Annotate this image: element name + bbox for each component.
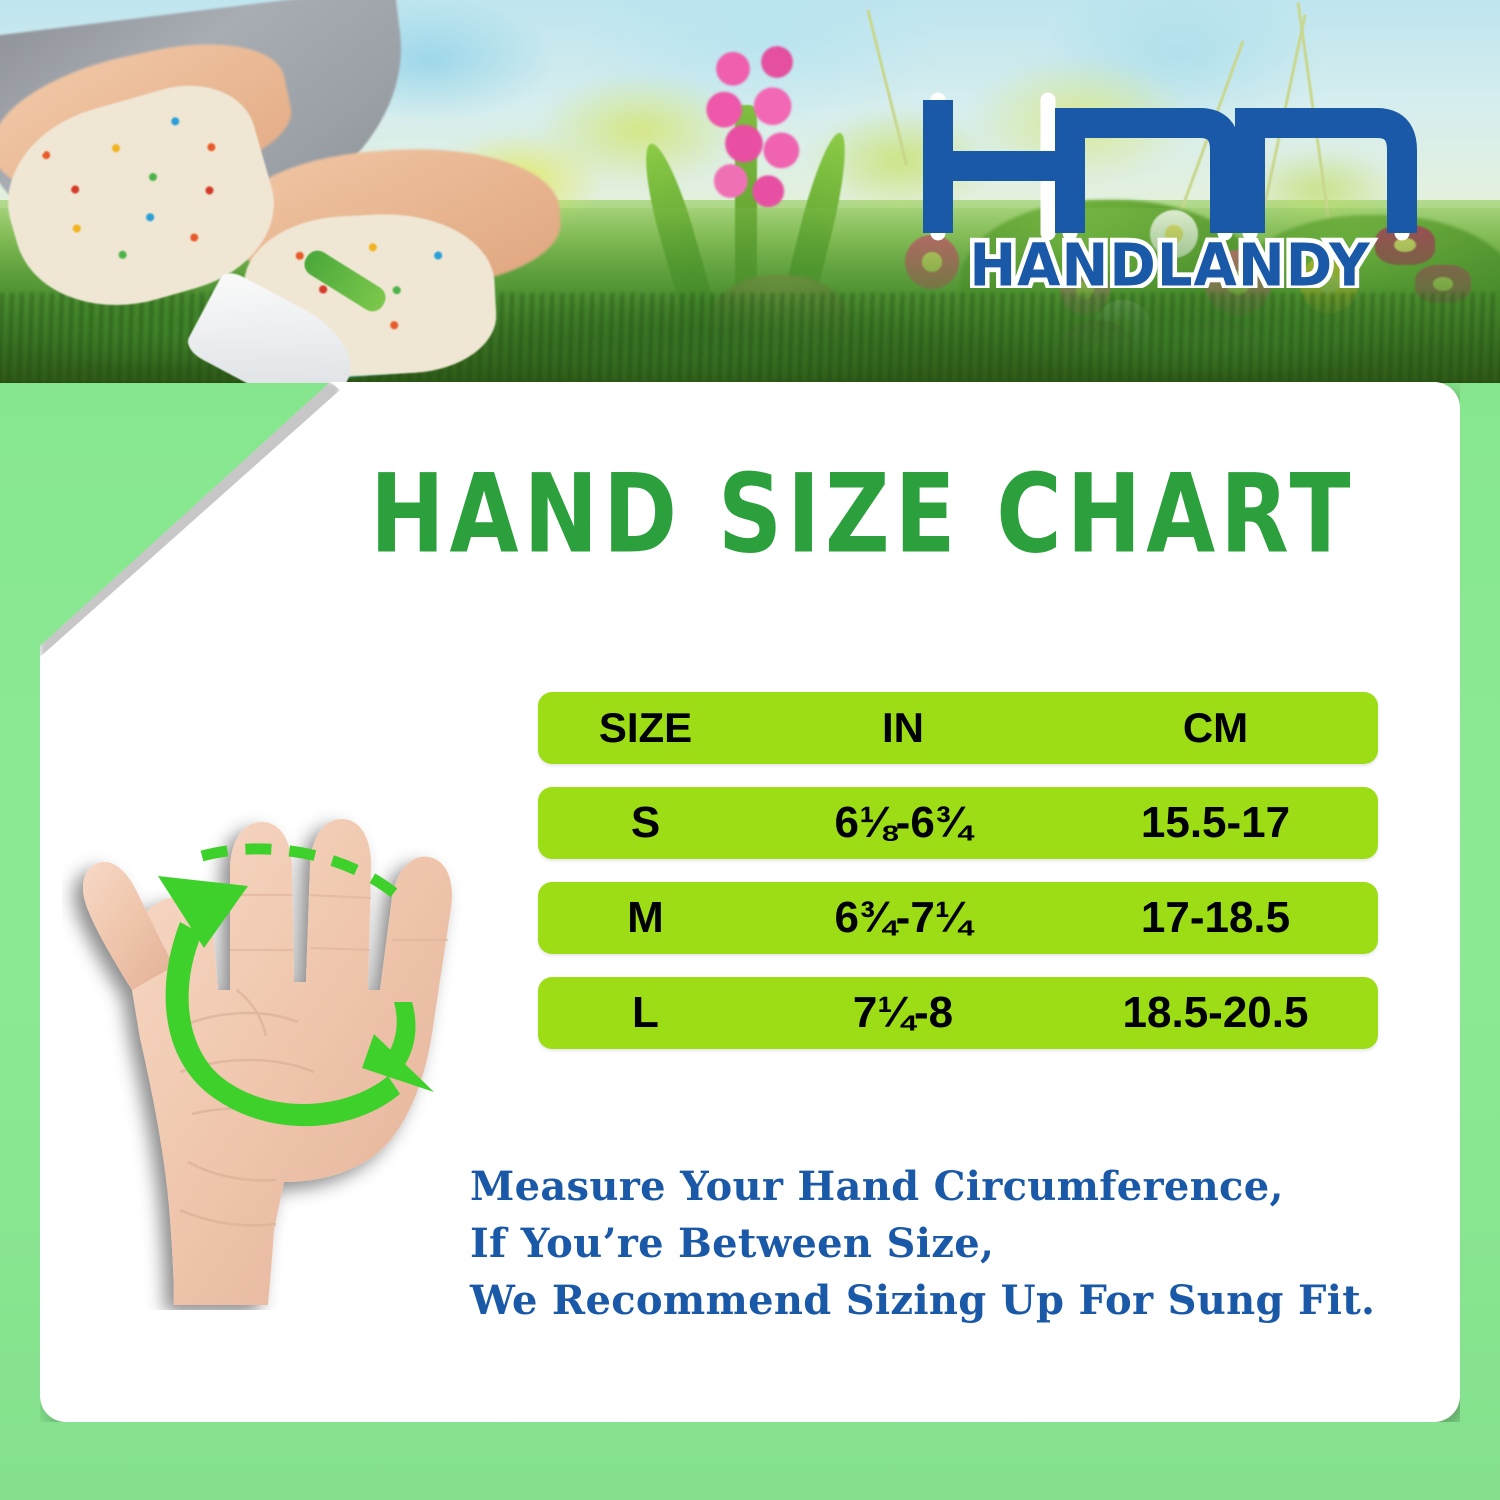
table-row: S 6⅛-6¾ 15.5-17	[538, 787, 1378, 859]
note-line-1: Measure Your Hand Circumference,	[470, 1158, 1400, 1215]
table-row: M 6¾-7¼ 17-18.5	[538, 882, 1378, 954]
cell-size: L	[538, 988, 753, 1038]
page-title: HAND SIZE CHART	[370, 456, 1389, 574]
note-line-3: We Recommend Sizing Up For Sung Fit.	[470, 1272, 1400, 1329]
column-header-cm: CM	[1053, 704, 1378, 752]
hand-measure-illustration	[62, 690, 482, 1310]
cell-in: 6¾-7¼	[753, 893, 1053, 943]
size-table: SIZE IN CM S 6⅛-6¾ 15.5-17 M 6¾-7¼ 17-18…	[538, 692, 1378, 1049]
cell-size: M	[538, 893, 753, 943]
cell-size: S	[538, 798, 753, 848]
note-line-2: If You’re Between Size,	[470, 1215, 1400, 1272]
sizing-note: Measure Your Hand Circumference, If You’…	[470, 1158, 1400, 1329]
table-header-row: SIZE IN CM	[538, 692, 1378, 764]
table-row: L 7¼-8 18.5-20.5	[538, 977, 1378, 1049]
cell-cm: 15.5-17	[1053, 798, 1378, 848]
logo-wordmark: HANDLANDY	[969, 231, 1371, 288]
handlandy-logo: HANDLANDY	[920, 88, 1430, 288]
cell-cm: 17-18.5	[1053, 893, 1378, 943]
cell-cm: 18.5-20.5	[1053, 988, 1378, 1038]
cell-in: 7¼-8	[753, 988, 1053, 1038]
column-header-size: SIZE	[538, 704, 753, 752]
cell-in: 6⅛-6¾	[753, 798, 1053, 848]
column-header-in: IN	[753, 704, 1053, 752]
hyacinth-flower	[700, 45, 810, 215]
size-chart-page: HANDLANDY HAND SIZE CHART	[0, 0, 1500, 1500]
